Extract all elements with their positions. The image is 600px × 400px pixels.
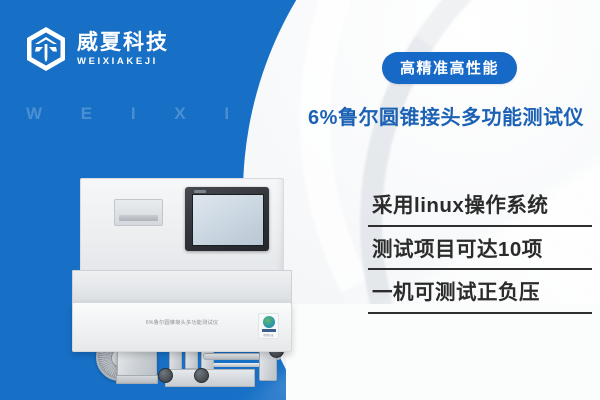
feature-label: 测试项目可达10项 xyxy=(368,240,592,269)
machine-back-panel xyxy=(80,178,284,275)
feature-item: 一机可测试正负压 xyxy=(368,283,592,314)
feature-divider xyxy=(368,268,592,270)
housing-foot xyxy=(116,375,158,384)
feature-divider xyxy=(368,225,592,227)
certification-seal-icon xyxy=(263,316,275,328)
highlight-badge: 高精准高性能 xyxy=(382,52,517,84)
machine-base: 6%鲁尔圆锥接头多功能测试仪 检测认证 xyxy=(72,302,292,352)
brand-logo[interactable]: 威夏科技 WEIXIAKEJI xyxy=(24,26,169,72)
brand-name-en: WEIXIAKEJI xyxy=(77,57,169,67)
machine-mount-plate xyxy=(114,199,163,226)
feature-item: 测试项目可达10项 xyxy=(368,240,592,271)
brand-name-cn: 威夏科技 xyxy=(77,32,169,53)
product-image: 6%鲁尔圆锥接头多功能测试仪 检测认证 xyxy=(72,178,294,353)
hmi-screen-surface[interactable] xyxy=(192,194,264,246)
feature-label: 一机可测试正负压 xyxy=(368,283,592,312)
certification-badge-label: 检测认证 xyxy=(264,333,274,337)
sliding-stage-plate xyxy=(165,369,255,387)
product-banner: 威夏科技 WEIXIAKEJI W E I X I A K E 高精准高性能 6… xyxy=(0,0,600,400)
certification-badge: 检测认证 xyxy=(258,313,279,339)
certification-barcode xyxy=(262,329,276,332)
feature-label: 采用linux操作系统 xyxy=(368,196,592,225)
adjust-knob[interactable] xyxy=(158,368,173,383)
feature-item: 采用linux操作系统 xyxy=(368,196,592,227)
hmi-touchscreen[interactable] xyxy=(185,187,269,251)
feature-list: 采用linux操作系统 测试项目可达10项 一机可测试正负压 xyxy=(368,196,592,327)
feature-divider xyxy=(368,312,592,314)
page-title: 6%鲁尔圆锥接头多功能测试仪 xyxy=(300,101,592,130)
hmi-brand-strip xyxy=(194,190,206,193)
hexagon-shield-logo-icon xyxy=(24,26,68,72)
adjust-knob[interactable] xyxy=(194,368,209,383)
